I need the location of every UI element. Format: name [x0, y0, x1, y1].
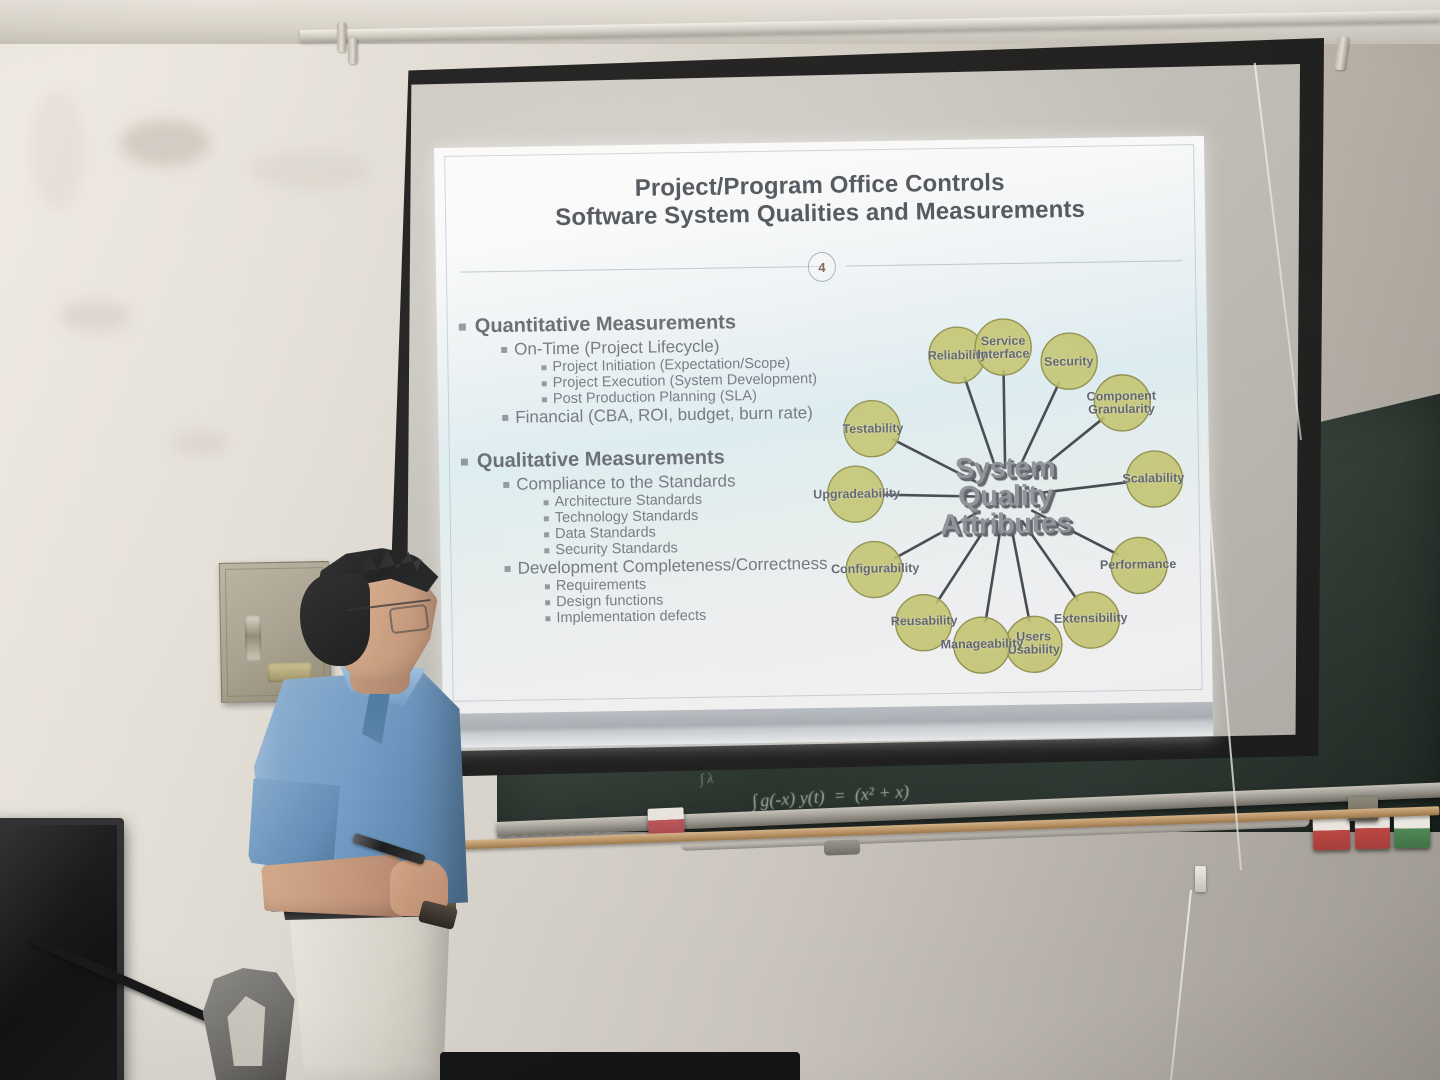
bullet-square-icon: [544, 532, 549, 537]
diagram-connector: [984, 527, 1002, 622]
bullet-text: Implementation defects: [556, 608, 706, 626]
chalk-writing: ∫ λ: [699, 772, 713, 789]
bullet-text: Technology Standards: [555, 508, 699, 526]
bullet-square-icon: [545, 616, 550, 621]
wall-stain: [250, 150, 370, 190]
node-label-line: Manageability: [941, 637, 1024, 651]
projected-slide: Project/Program Office Controls Software…: [434, 136, 1213, 748]
bullet-text: Compliance to the Standards: [516, 471, 736, 494]
bullet-square-icon: [501, 347, 507, 353]
bullet-square-icon: [459, 324, 466, 331]
bullet-square-icon: [461, 459, 468, 466]
diagram-node-label: Extensibility: [1054, 612, 1128, 626]
wall-stain: [60, 300, 130, 332]
diagram-node-label: Testability: [842, 422, 903, 436]
node-label-line: Upgradeability: [813, 487, 900, 501]
diagram-node-label: ServiceInterface: [977, 335, 1030, 362]
foreground-desk: [440, 1052, 800, 1080]
bullet-text: Requirements: [556, 577, 647, 594]
diagram-node-label: Security: [1044, 355, 1094, 369]
bullet-square-icon: [544, 548, 549, 553]
wood-rail-clip: [824, 839, 861, 855]
node-label-line: Extensibility: [1054, 612, 1128, 626]
node-label-line: Performance: [1100, 558, 1177, 572]
cord-clip: [1195, 866, 1206, 892]
wall-stain: [30, 90, 85, 210]
diagram-center-label: SystemQualityAttributes: [939, 454, 1072, 540]
bullet-square-icon: [542, 397, 547, 402]
slide-number-text: 4: [818, 259, 825, 274]
bullet-text: Qualitative Measurements: [477, 446, 725, 473]
node-label-line: Granularity: [1087, 403, 1157, 417]
node-label-line: Security: [1044, 355, 1094, 369]
classroom-photo: ∫ g(-x) y(t) = (x² + x) ∫ λ dx Project/P…: [0, 0, 1440, 1080]
presenter-sleeve: [248, 778, 340, 874]
bullet-square-icon: [542, 381, 547, 386]
bullet-text: Design functions: [556, 592, 663, 610]
diagram-connector: [1011, 526, 1029, 621]
bullet-square-icon: [503, 482, 509, 488]
node-label-line: Interface: [977, 348, 1029, 362]
bullet-text: Data Standards: [555, 525, 656, 543]
bullet-square-icon: [544, 500, 549, 505]
bullet-square-icon: [545, 600, 550, 605]
blackboard-eraser[interactable]: [647, 807, 684, 835]
diagram-node-label: Performance: [1100, 558, 1177, 572]
node-label-line: Reusability: [891, 615, 958, 629]
diagram-node-label: Upgradeability: [813, 487, 900, 501]
diagram-node-label: Manageability: [941, 637, 1024, 651]
diagram-node-label: Reusability: [891, 615, 958, 629]
wall-stain: [120, 120, 210, 166]
system-quality-attributes-diagram: SystemQualityAttributes ReliabilityServi…: [803, 304, 1209, 690]
chalk-box-red-1[interactable]: [1313, 818, 1351, 851]
presenter-trousers: [278, 906, 450, 1080]
bullet-square-icon: [544, 516, 549, 521]
bullet-text: Security Standards: [555, 540, 678, 558]
presenter-glasses-lens: [389, 604, 430, 634]
wall-stain: [170, 430, 230, 456]
node-label-line: Configurability: [831, 562, 919, 577]
node-label-line: Testability: [842, 422, 903, 436]
screen-hook: [348, 38, 357, 64]
bullet-square-icon: [541, 365, 546, 370]
bullet-text: Quantitative Measurements: [475, 311, 737, 338]
slide-title: Project/Program Office Controls Software…: [434, 166, 1205, 235]
bullet-square-icon: [545, 584, 550, 589]
screen-hook: [337, 22, 346, 52]
node-label-line: Scalability: [1122, 472, 1184, 486]
diagram-node-label: Scalability: [1122, 472, 1184, 486]
diagram-node-label: ComponentGranularity: [1087, 390, 1157, 417]
chalk-box-green-1[interactable]: [1394, 815, 1430, 848]
diagram-node-label: Configurability: [831, 562, 919, 577]
center-line: Attributes: [940, 510, 1072, 540]
bullet-square-icon: [502, 415, 508, 421]
